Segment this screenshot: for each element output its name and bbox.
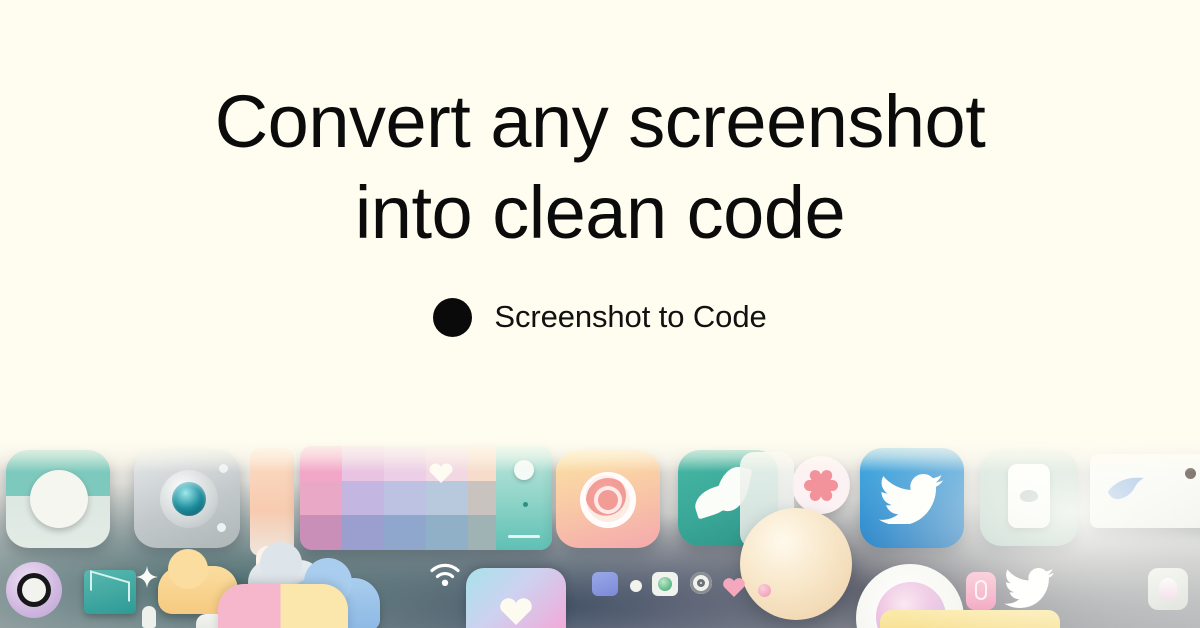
small-mic-icon	[142, 606, 156, 628]
lavender-ring-icon	[6, 562, 62, 618]
cream-sphere	[740, 508, 852, 620]
sparkle-icon	[136, 566, 158, 588]
camera-dot-top-icon	[219, 464, 228, 473]
brand-logo-circle-icon	[433, 298, 472, 337]
white-knob-icon	[1148, 568, 1188, 610]
leaf-shape-lower	[691, 482, 737, 519]
target-icon	[690, 572, 712, 594]
grid-cell	[384, 446, 426, 481]
grid-cell	[426, 446, 468, 481]
white-circle-shape	[30, 470, 88, 528]
blue-square-icon	[592, 572, 618, 596]
camera-lens-shape	[172, 482, 206, 516]
white-card-with-bird	[1090, 454, 1200, 528]
envelope-icon	[84, 570, 136, 614]
grid-cell	[384, 515, 426, 550]
blue-bird-icon	[1106, 476, 1152, 502]
peach-panel	[250, 448, 294, 556]
white-bird-icon	[1004, 568, 1056, 608]
pin-inner-ring-shape	[594, 486, 622, 514]
grid-cell	[300, 481, 342, 516]
pink-heart-icon	[722, 576, 746, 598]
hero-text-block: Convert any screenshot into clean code S…	[0, 0, 1200, 442]
icon-collage-illustration	[0, 438, 1200, 628]
grid-cell	[342, 515, 384, 550]
flower-icon	[792, 456, 850, 514]
page-title: Convert any screenshot into clean code	[215, 77, 986, 258]
mint-side-panel	[496, 446, 552, 550]
ring-inner-shape	[17, 573, 51, 607]
led-indicator-icon	[523, 502, 528, 507]
envelope-flap-shape	[90, 570, 130, 601]
grid-cell	[300, 446, 342, 481]
knob-icon	[514, 460, 534, 480]
pink-bead-icon	[758, 584, 771, 597]
twitter-icon	[860, 448, 964, 548]
grey-leaf-icon	[1020, 490, 1038, 502]
pink-yellow-rounded-panel	[218, 584, 348, 628]
white-dot-icon	[630, 580, 642, 592]
wifi-icon	[428, 562, 462, 588]
grid-cell	[426, 481, 468, 516]
heart-icon	[498, 596, 534, 626]
bird-eye-icon	[1185, 468, 1196, 479]
brand-row: Screenshot to Code	[433, 298, 766, 337]
location-pin-icon	[556, 450, 660, 548]
gradient-heart-tile	[466, 568, 566, 628]
panel-bar-shape	[508, 535, 540, 538]
grid-cell	[342, 481, 384, 516]
yellow-bar	[880, 610, 1060, 628]
pink-badge-icon	[966, 572, 996, 610]
badge-glyph-shape	[975, 580, 987, 600]
share-card: Convert any screenshot into clean code S…	[0, 0, 1200, 628]
green-circle-shape	[658, 577, 672, 591]
grid-cell	[300, 515, 342, 550]
camera-icon	[134, 450, 240, 548]
teal-rounded-square-icon	[6, 450, 110, 548]
green-circle-app-icon	[652, 572, 678, 596]
grid-cell	[426, 515, 468, 550]
grid-cell	[342, 446, 384, 481]
brand-name: Screenshot to Code	[494, 299, 766, 335]
knob-glyph-shape	[1159, 578, 1177, 600]
mint-card-icon	[980, 450, 1078, 546]
twitter-bird-icon	[878, 474, 946, 524]
grid-cell	[384, 481, 426, 516]
white-card-shape	[1008, 464, 1050, 528]
camera-dot-bottom-icon	[217, 523, 226, 532]
